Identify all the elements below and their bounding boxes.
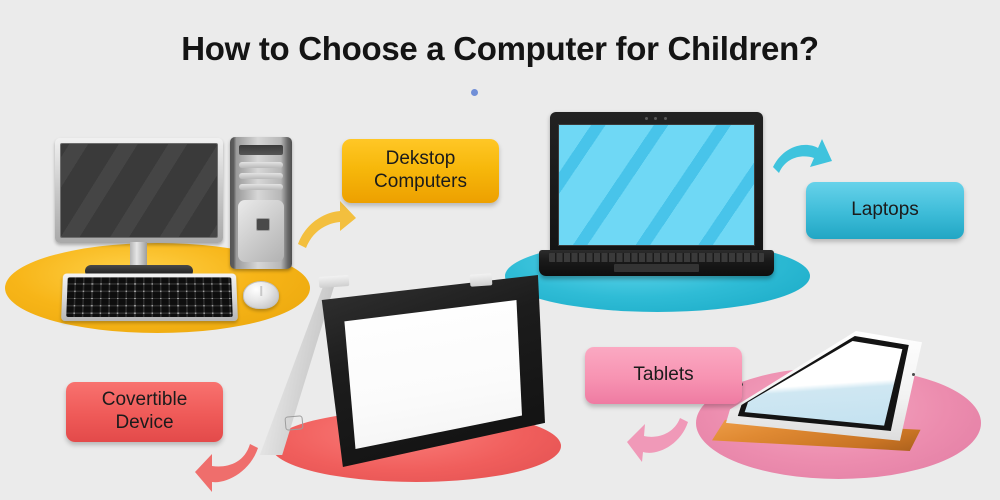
- label-laptops[interactable]: Laptops: [806, 182, 964, 239]
- laptop-screen: [558, 124, 755, 246]
- convertible-logo-icon: [284, 415, 303, 431]
- power-button-icon: [256, 218, 270, 231]
- webcam-icon: [664, 117, 667, 120]
- label-desktop-computers-text: Dekstop Computers: [374, 148, 467, 194]
- convertible-device-illustration: [255, 275, 565, 475]
- page-title: How to Choose a Computer for Children?: [0, 30, 1000, 68]
- arrow-to-convertible-label: [192, 442, 260, 496]
- monitor: [55, 138, 223, 243]
- tower-vent-slot: [239, 184, 283, 190]
- pc-tower-case: [230, 137, 292, 269]
- convertible-hinge: [319, 275, 350, 288]
- label-convertible-device[interactable]: Covertible Device: [66, 382, 223, 442]
- monitor-screen: [60, 143, 218, 238]
- tower-front-panel: [238, 200, 284, 262]
- tower-vent-slot: [239, 173, 283, 179]
- infographic-canvas: How to Choose a Computer for Children? D…: [0, 0, 1000, 500]
- webcam-icon: [645, 117, 648, 120]
- tower-vent-slot: [239, 162, 283, 168]
- laptop-trackpad: [614, 264, 699, 272]
- label-convertible-device-text: Covertible Device: [102, 389, 188, 435]
- decorative-dot: [471, 89, 478, 96]
- tower-drive-bay: [239, 145, 283, 155]
- keyboard-keys: [66, 277, 233, 317]
- keyboard: [61, 273, 238, 321]
- convertible-hinge: [470, 273, 493, 287]
- label-tablets-text: Tablets: [633, 364, 693, 387]
- webcam-icon: [654, 117, 657, 120]
- label-tablets[interactable]: Tablets: [585, 347, 742, 404]
- arrow-to-tablets-label: [624, 414, 690, 466]
- tablet-camera-icon: [912, 373, 915, 376]
- arrow-to-desktop-label: [296, 198, 358, 254]
- label-desktop-computers[interactable]: Dekstop Computers: [342, 139, 499, 203]
- laptop-lid: [550, 112, 763, 252]
- laptop-keyboard: [549, 253, 764, 262]
- laptop-base: [539, 250, 774, 276]
- label-laptops-text: Laptops: [851, 199, 919, 222]
